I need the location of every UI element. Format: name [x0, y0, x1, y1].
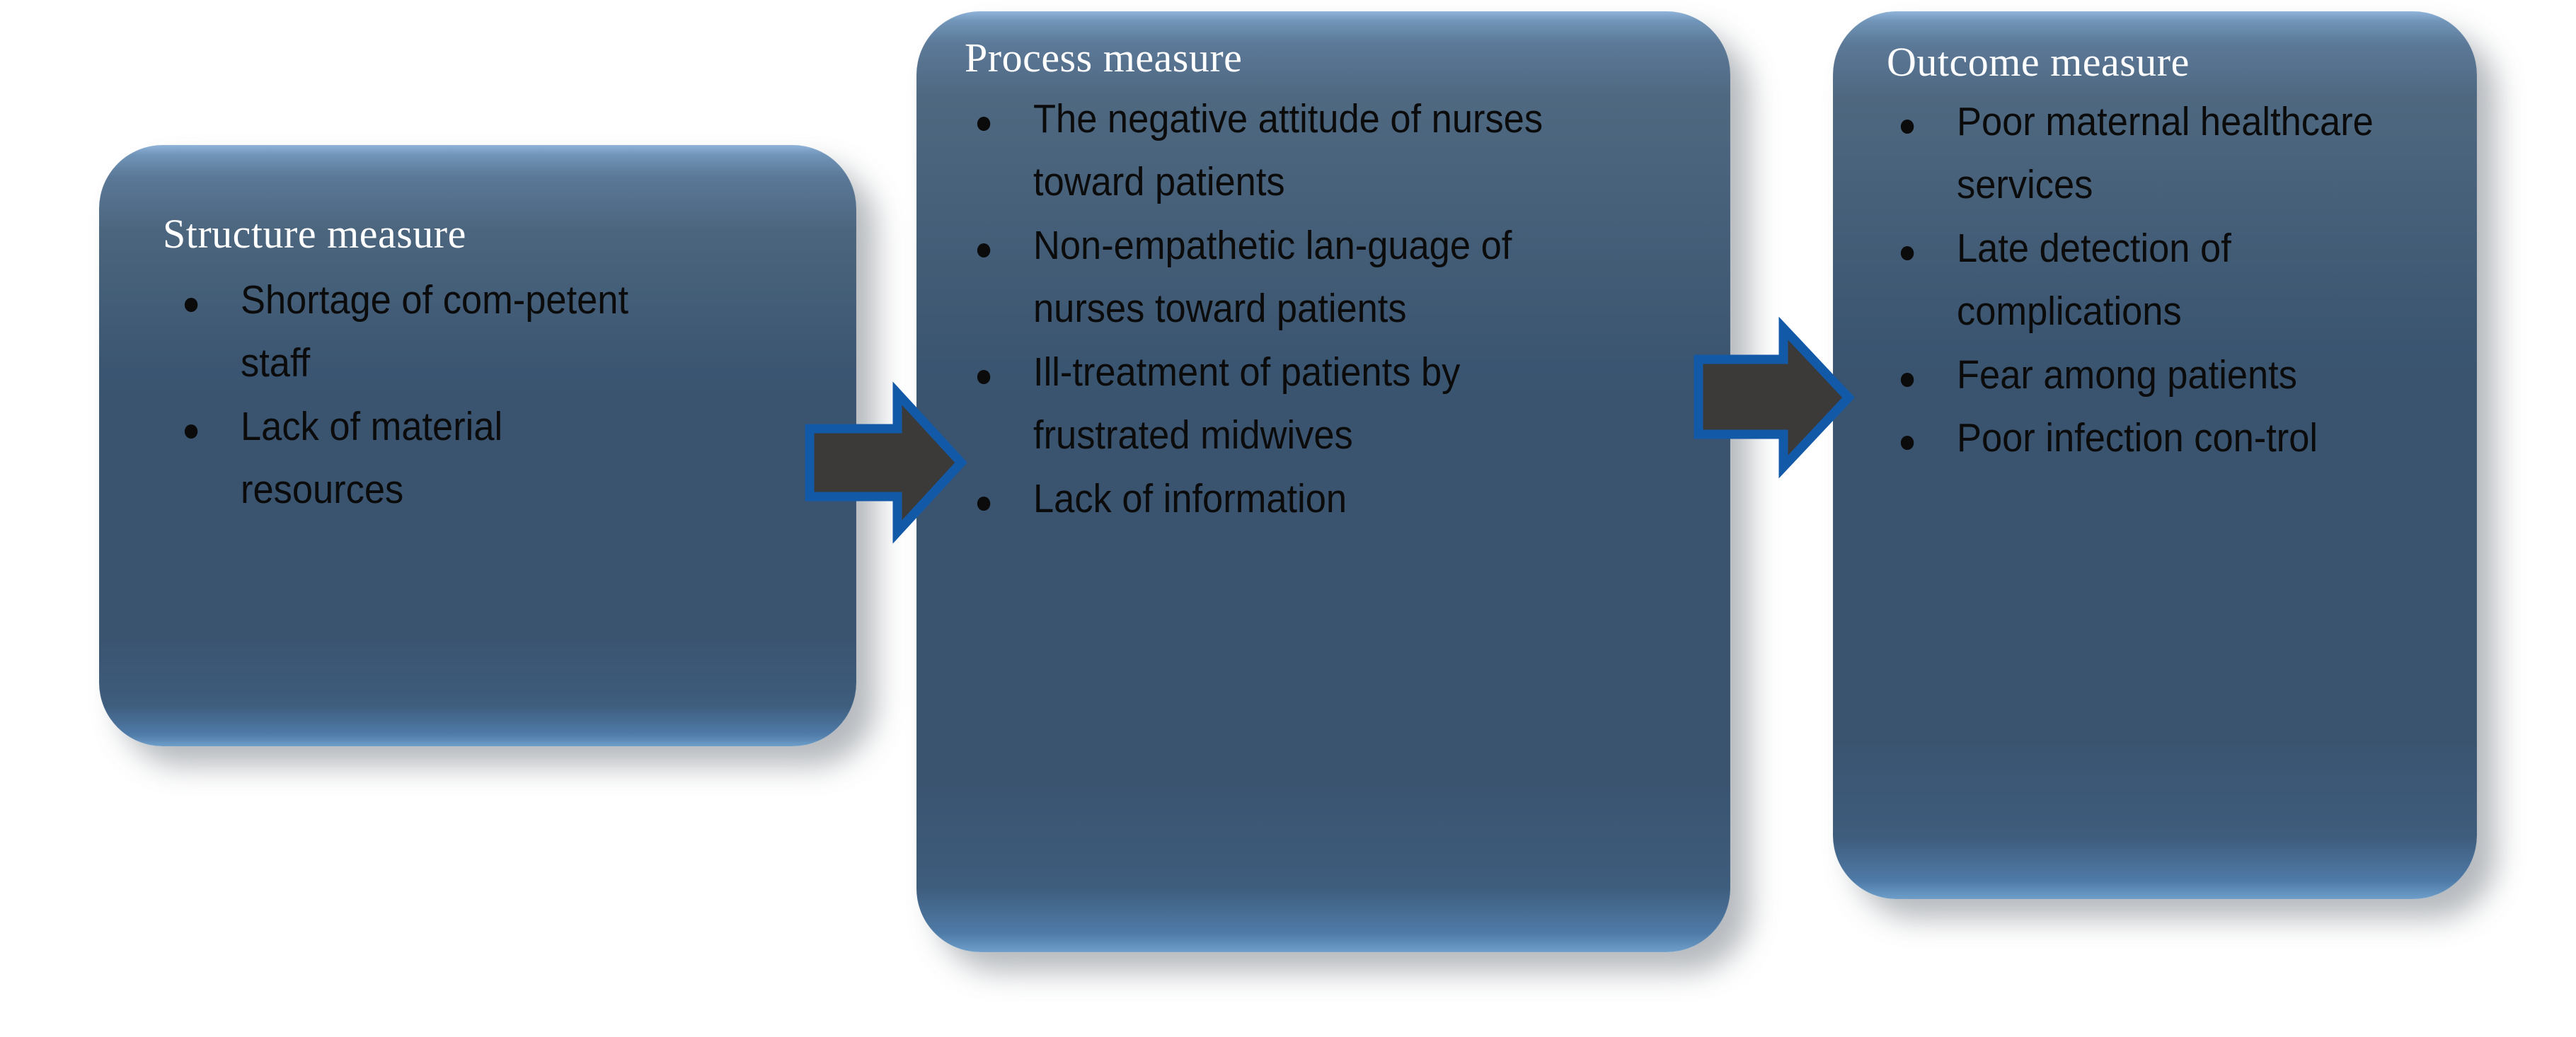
bullet-text: Non-empathetic lan-guage of nurses towar… — [1033, 214, 1548, 341]
bullet-dot-icon — [1901, 246, 1914, 260]
bullet-dot-icon — [977, 497, 990, 511]
bullet-text: Lack of material resources — [241, 395, 670, 522]
bullet-text: Lack of information — [1033, 468, 1548, 531]
bullet-dot-icon — [1901, 436, 1914, 450]
bullet-text: Late detection of complications — [1957, 217, 2413, 344]
node-structure-bullet-list: Shortage of com-petent staff Lack of mat… — [241, 269, 708, 522]
bullet-dot-icon — [185, 298, 197, 312]
bullet-dot-icon — [977, 117, 990, 131]
node-process-measure[interactable]: Process measure The negative attitude of… — [916, 11, 1730, 952]
node-process-bullet-list: The negative attitude of nurses toward p… — [1033, 88, 1592, 531]
list-item: Lack of information — [1033, 468, 1548, 531]
diagram-canvas: Structure measure Shortage of com-petent… — [0, 0, 2576, 1037]
node-structure-measure[interactable]: Structure measure Shortage of com-petent… — [99, 145, 856, 746]
bullet-dot-icon — [977, 243, 990, 257]
node-structure-title: Structure measure — [163, 213, 466, 256]
bullet-text: The negative attitude of nurses toward p… — [1033, 88, 1548, 214]
bullet-dot-icon — [977, 370, 990, 384]
list-item: Shortage of com-petent staff — [241, 269, 670, 395]
node-process-title: Process measure — [965, 37, 1242, 80]
list-item: Lack of material resources — [241, 395, 670, 522]
right-block-arrow-icon — [800, 382, 970, 545]
list-item: Poor maternal healthcare services — [1957, 91, 2413, 217]
list-item: The negative attitude of nurses toward p… — [1033, 88, 1548, 214]
node-outcome-bullet-list: Poor maternal healthcare services Late d… — [1957, 91, 2452, 470]
bullet-text: Poor infection con-trol — [1957, 407, 2413, 470]
list-item: Late detection of complications — [1957, 217, 2413, 344]
bullet-text: Shortage of com-petent staff — [241, 269, 670, 395]
list-item: Ill-treatment of patients by frustrated … — [1033, 341, 1548, 468]
list-item: Poor infection con-trol — [1957, 407, 2413, 470]
list-item: Non-empathetic lan-guage of nurses towar… — [1033, 214, 1548, 341]
right-block-arrow-icon — [1691, 327, 1861, 468]
bullet-text: Fear among patients — [1957, 344, 2413, 407]
bullet-dot-icon — [1901, 373, 1914, 387]
node-outcome-title: Outcome measure — [1887, 41, 2190, 84]
bullet-text: Ill-treatment of patients by frustrated … — [1033, 341, 1548, 468]
bullet-dot-icon — [1901, 120, 1914, 134]
bullet-dot-icon — [185, 424, 197, 439]
bullet-text: Poor maternal healthcare services — [1957, 91, 2413, 217]
node-outcome-measure[interactable]: Outcome measure Poor maternal healthcare… — [1833, 11, 2477, 899]
list-item: Fear among patients — [1957, 344, 2413, 407]
